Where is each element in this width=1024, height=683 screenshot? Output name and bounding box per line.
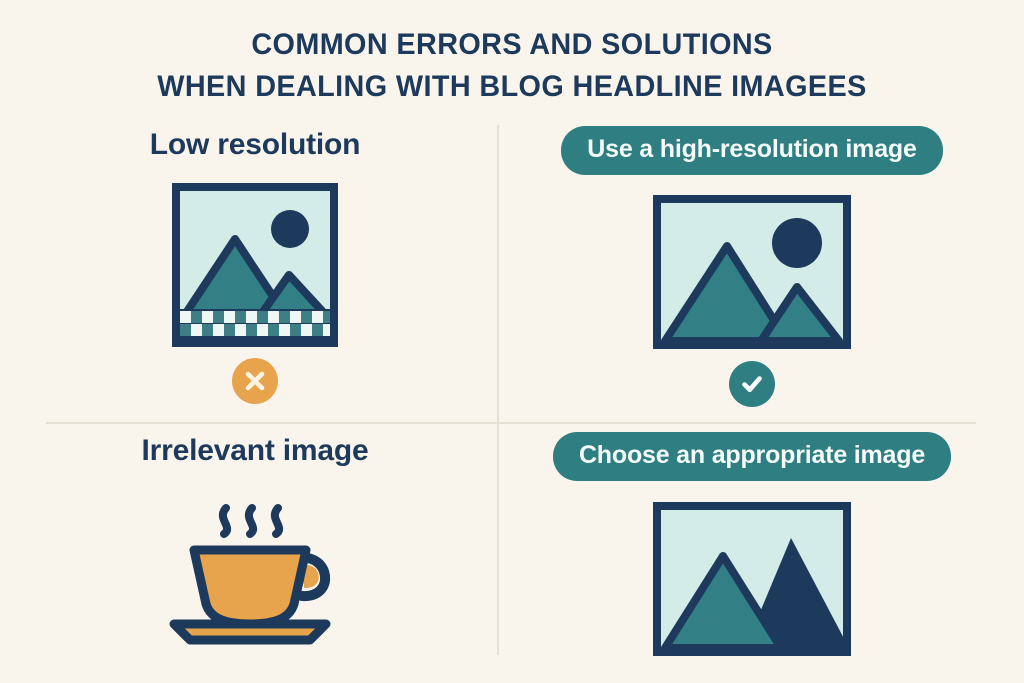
mountains-image-icon — [653, 502, 851, 656]
low-resolution-image-icon — [172, 183, 338, 347]
quadrant-low-resolution: Low resolution — [20, 126, 490, 404]
low-resolution-label: Low resolution — [150, 126, 361, 164]
coffee-cup-icon — [160, 492, 350, 652]
vertical-divider — [497, 125, 499, 655]
irrelevant-image-label: Irrelevant image — [142, 432, 369, 470]
error-x-badge — [232, 358, 278, 404]
title-line-1: COMMON ERRORS AND SOLUTIONS — [20, 24, 1003, 66]
horizontal-divider — [46, 422, 976, 424]
title-line-2: WHEN DEALING WITH BLOG HEADLINE IMAGEES — [20, 66, 1003, 108]
quadrant-appropriate-image: Choose an appropriate image — [512, 432, 992, 656]
appropriate-image-label: Choose an appropriate image — [553, 432, 951, 481]
pixelation-strip — [180, 309, 330, 339]
high-resolution-image-icon — [653, 195, 851, 349]
high-resolution-label: Use a high-resolution image — [561, 126, 942, 175]
infographic-canvas: COMMON ERRORS AND SOLUTIONS WHEN DEALING… — [0, 0, 1024, 683]
success-check-badge — [729, 361, 775, 407]
page-title: COMMON ERRORS AND SOLUTIONS WHEN DEALING… — [0, 24, 1024, 108]
quadrant-irrelevant-image: Irrelevant image — [20, 432, 490, 652]
quadrant-high-resolution: Use a high-resolution image — [512, 126, 992, 407]
